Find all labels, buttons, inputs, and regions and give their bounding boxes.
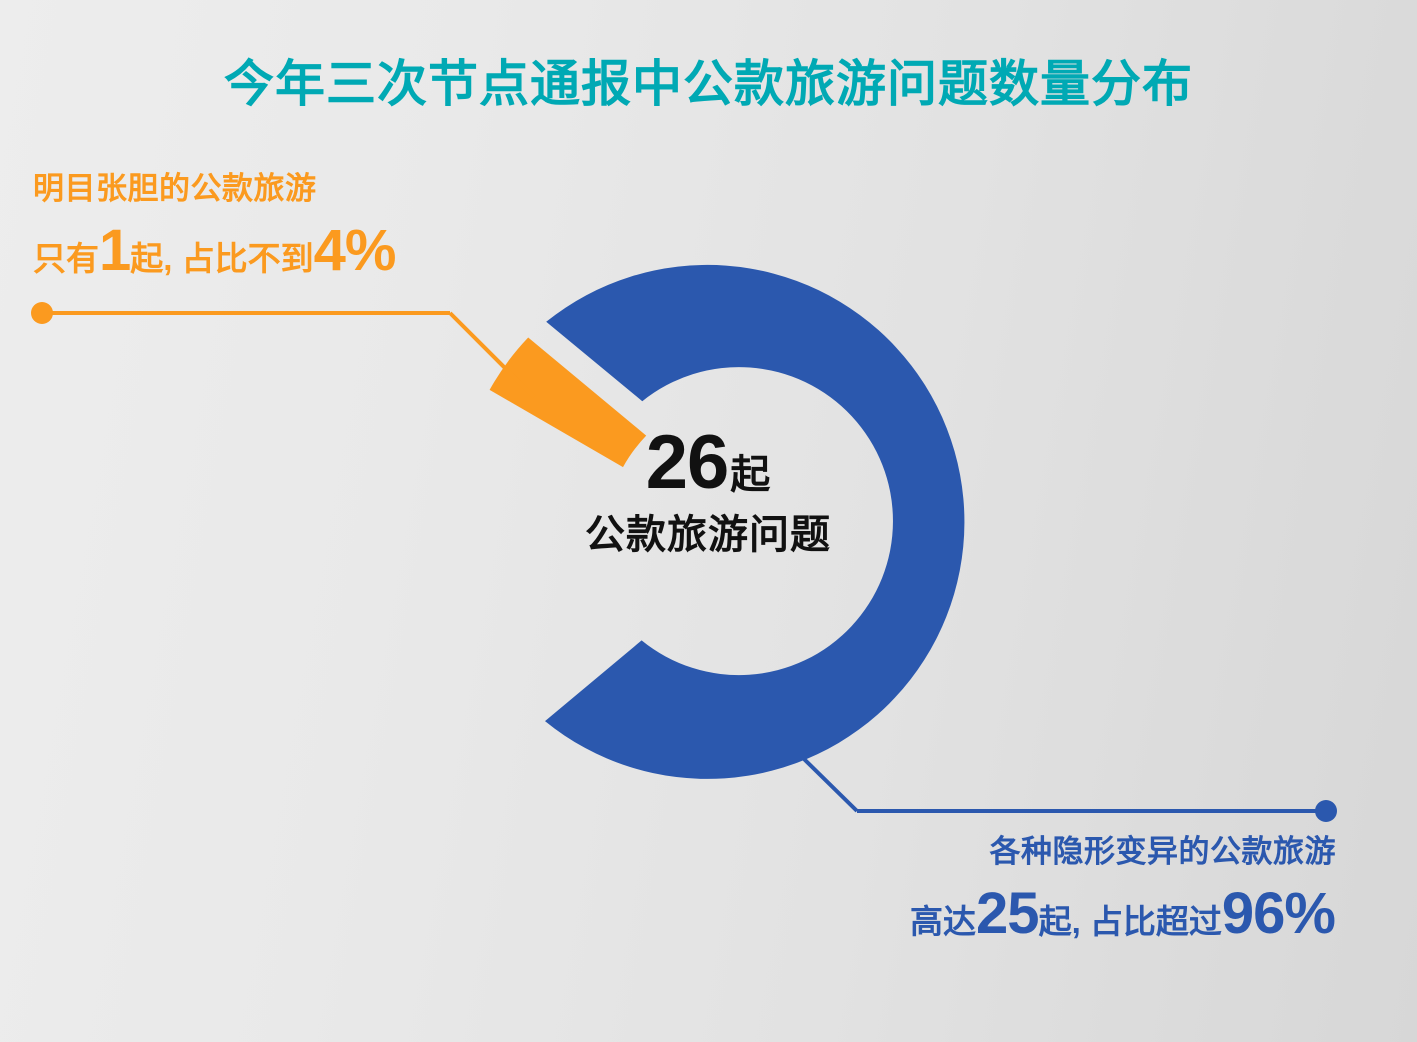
callout-blue-separator: , xyxy=(1072,903,1090,940)
leader-blue-diagonal xyxy=(804,759,857,811)
leader-line-blue xyxy=(804,759,1337,822)
infographic-canvas: 今年三次节点通报中公款旅游问题数量分布 26起 公款旅游问题 明目张胆的公款旅游 xyxy=(0,0,1417,1042)
callout-blue-lead: 高达 xyxy=(910,903,976,940)
callout-orange: 明目张胆的公款旅游 只有1起, 占比不到4% xyxy=(33,163,503,280)
callout-blue-value: 25 xyxy=(976,881,1039,946)
callout-orange-percent-symbol: % xyxy=(345,218,397,283)
callout-blue-value-unit: 起 xyxy=(1039,903,1072,940)
callout-blue-qualifier: 占比超过 xyxy=(1090,903,1222,940)
leader-line-orange xyxy=(31,302,534,397)
callout-blue-percent: 96 xyxy=(1222,881,1285,946)
callout-orange-separator: , xyxy=(163,240,181,277)
callout-orange-value-unit: 起 xyxy=(130,240,163,277)
callout-blue-stat: 高达25起, 占比超过96% xyxy=(816,885,1336,943)
donut-slice-blue[interactable] xyxy=(545,265,964,779)
callout-blue-heading: 各种隐形变异的公款旅游 xyxy=(816,826,1336,871)
callout-orange-heading: 明目张胆的公款旅游 xyxy=(33,163,503,208)
callout-orange-value: 1 xyxy=(99,218,130,283)
callout-blue: 各种隐形变异的公款旅游 高达25起, 占比超过96% xyxy=(816,826,1336,943)
leader-orange-endpoint-dot xyxy=(31,302,53,324)
callout-blue-percent-symbol: % xyxy=(1284,881,1336,946)
callout-orange-percent: 4 xyxy=(314,218,345,283)
callout-orange-lead: 只有 xyxy=(33,240,99,277)
callout-orange-stat: 只有1起, 占比不到4% xyxy=(33,222,503,280)
leader-blue-endpoint-dot xyxy=(1315,800,1337,822)
callout-orange-qualifier: 占比不到 xyxy=(182,240,314,277)
